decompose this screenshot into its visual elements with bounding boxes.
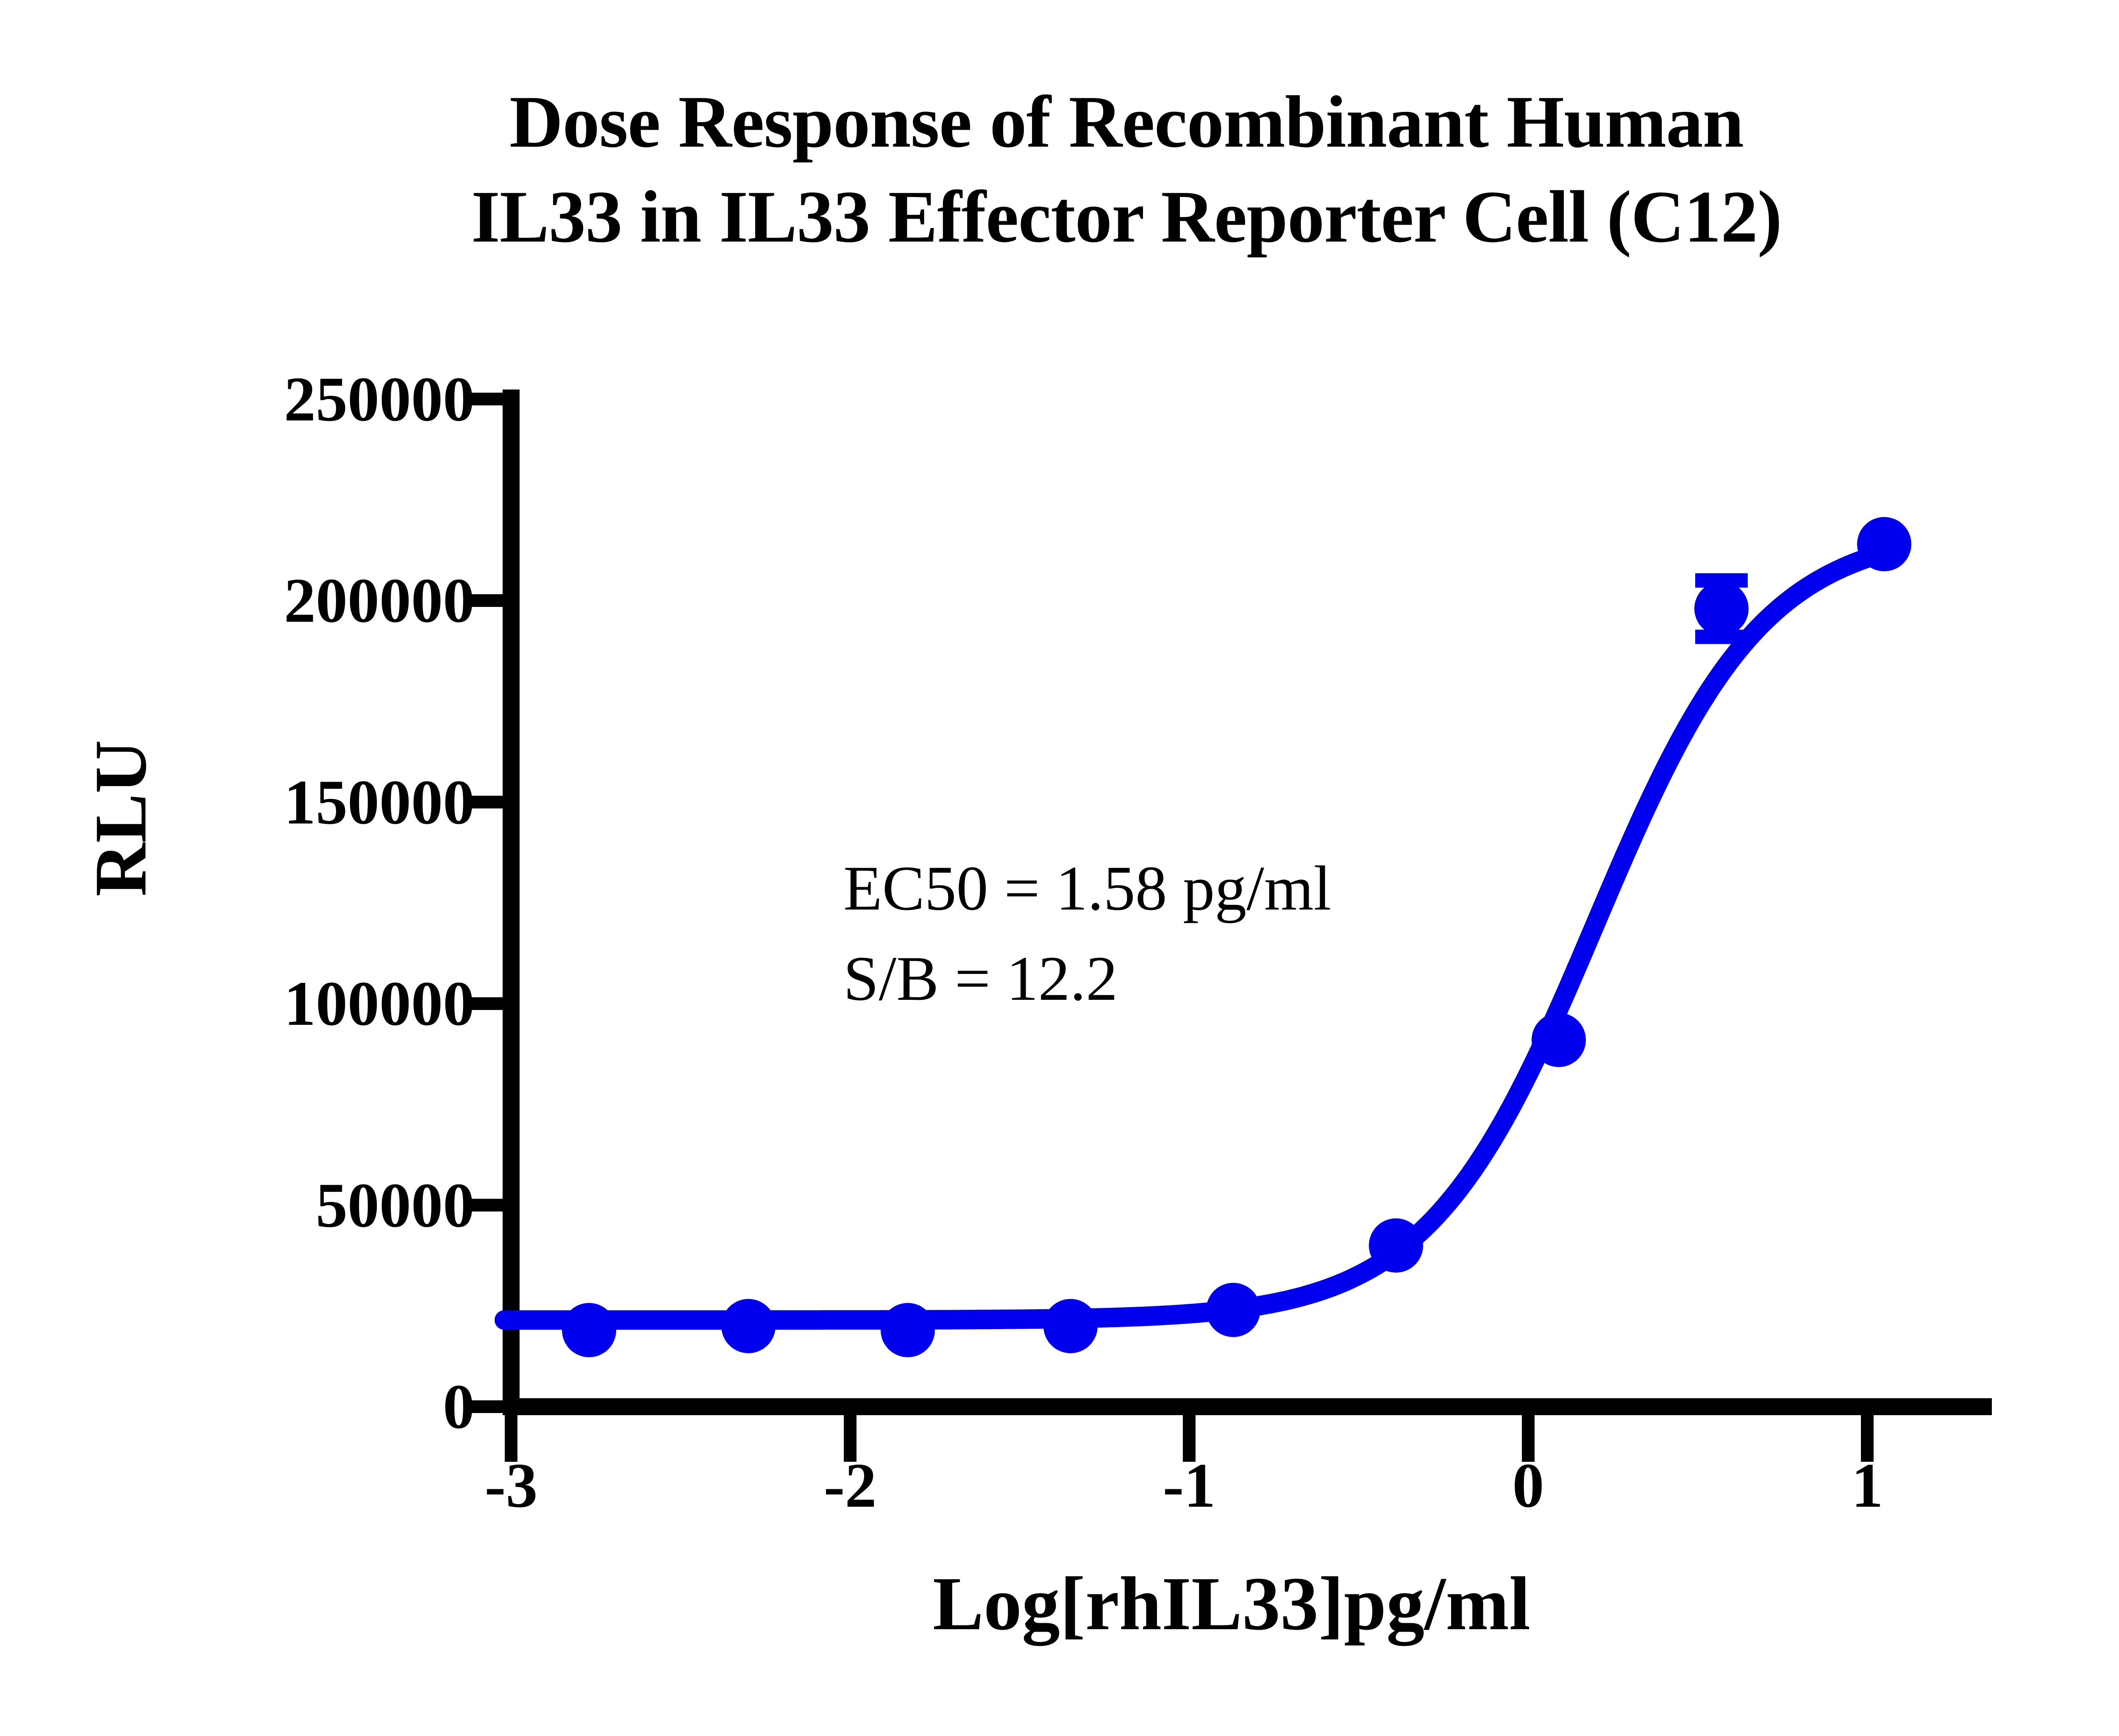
chart-figure: Dose Response of Recombinant Human IL33 … <box>0 0 2119 1736</box>
data-point-1 <box>721 1299 776 1353</box>
x-tick-label-1: -2 <box>824 1454 877 1517</box>
data-point-2 <box>881 1303 935 1357</box>
x-tick-label-2: -1 <box>1163 1454 1216 1517</box>
data-point-3 <box>1043 1299 1098 1353</box>
data-point-8 <box>1857 517 1911 571</box>
y-axis-title: RLU <box>78 740 163 896</box>
data-point-6 <box>1532 1013 1586 1067</box>
annotation-block: EC50 = 1.58 pg/ml S/B = 12.2 <box>843 843 1331 1024</box>
data-point-0 <box>562 1303 616 1357</box>
x-axis-title: Log[rhIL33]pg/ml <box>511 1560 1952 1647</box>
data-point-5 <box>1369 1219 1423 1273</box>
data-point-4 <box>1206 1283 1260 1337</box>
annotation-sb: S/B = 12.2 <box>843 934 1331 1024</box>
x-tick-label-0: -3 <box>485 1454 538 1517</box>
x-tick-label-3: 0 <box>1513 1454 1544 1517</box>
data-point-7 <box>1694 581 1749 636</box>
x-tick-label-4: 1 <box>1852 1454 1883 1517</box>
annotation-ec50: EC50 = 1.58 pg/ml <box>843 843 1331 934</box>
